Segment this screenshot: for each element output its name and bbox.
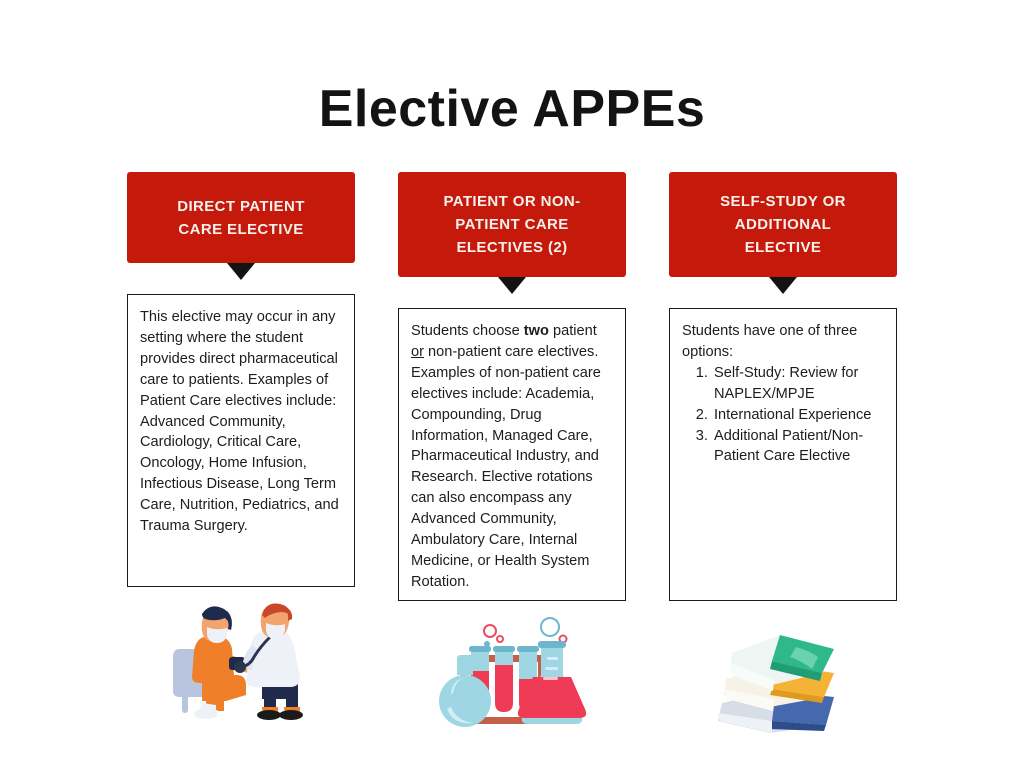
content-text-segment: two bbox=[524, 323, 549, 339]
list-item: Additional Patient/Non-Patient Care Elec… bbox=[712, 426, 882, 468]
list-item: International Experience bbox=[712, 405, 882, 426]
header-wrap-1: DIRECT PATIENT CARE ELECTIVE bbox=[127, 172, 355, 280]
content-text-segment: non-patient care electives. Examples of … bbox=[411, 344, 601, 590]
header-line: ELECTIVE bbox=[681, 236, 885, 259]
header-line: PATIENT OR NON- bbox=[410, 190, 614, 213]
content-text-segment: Students choose bbox=[411, 323, 524, 339]
stack-of-books-illustration bbox=[703, 617, 863, 735]
header-line: SELF-STUDY OR bbox=[681, 190, 885, 213]
list-item: Self-Study: Review for NAPLEX/MPJE bbox=[712, 363, 882, 405]
header-line: ADDITIONAL bbox=[681, 213, 885, 236]
page-title: Elective APPEs bbox=[0, 78, 1024, 140]
content-intro-text: Students have one of three options: bbox=[682, 321, 882, 363]
content-text-segment: or bbox=[411, 344, 424, 360]
header-box-direct-patient-care-elective: DIRECT PATIENT CARE ELECTIVE bbox=[127, 172, 355, 263]
triangle-pointer-icon bbox=[227, 263, 255, 280]
column-self-study-or-additional-elective: SELF-STUDY OR ADDITIONAL ELECTIVE Studen… bbox=[669, 172, 897, 735]
triangle-pointer-icon bbox=[498, 277, 526, 294]
content-box-self-study-or-additional-elective: Students have one of three options: Self… bbox=[669, 308, 897, 601]
header-wrap-3: SELF-STUDY OR ADDITIONAL ELECTIVE bbox=[669, 172, 897, 294]
doctor-examining-patient-illustration bbox=[161, 603, 321, 721]
header-wrap-2: PATIENT OR NON- PATIENT CARE ELECTIVES (… bbox=[398, 172, 626, 294]
column-patient-or-non-patient-care-electives: PATIENT OR NON- PATIENT CARE ELECTIVES (… bbox=[398, 172, 626, 735]
header-line: DIRECT PATIENT bbox=[139, 195, 343, 218]
header-box-patient-or-non-patient-care-electives: PATIENT OR NON- PATIENT CARE ELECTIVES (… bbox=[398, 172, 626, 277]
header-line: PATIENT CARE bbox=[410, 213, 614, 236]
triangle-pointer-icon bbox=[769, 277, 797, 294]
content-text: Students choose two patient or non-patie… bbox=[411, 321, 611, 593]
header-line: ELECTIVES (2) bbox=[410, 236, 614, 259]
header-box-self-study-or-additional-elective: SELF-STUDY OR ADDITIONAL ELECTIVE bbox=[669, 172, 897, 277]
content-box-direct-patient-care-elective: This elective may occur in any setting w… bbox=[127, 294, 355, 587]
lab-glassware-illustration bbox=[432, 617, 592, 735]
elective-columns: DIRECT PATIENT CARE ELECTIVE This electi… bbox=[0, 172, 1024, 735]
header-line: CARE ELECTIVE bbox=[139, 218, 343, 241]
content-text: This elective may occur in any setting w… bbox=[140, 307, 340, 537]
content-box-patient-or-non-patient-care-electives: Students choose two patient or non-patie… bbox=[398, 308, 626, 601]
options-list: Self-Study: Review for NAPLEX/MPJEIntern… bbox=[682, 363, 882, 468]
column-direct-patient-care-elective: DIRECT PATIENT CARE ELECTIVE This electi… bbox=[127, 172, 355, 721]
content-text-segment: patient bbox=[549, 323, 597, 339]
